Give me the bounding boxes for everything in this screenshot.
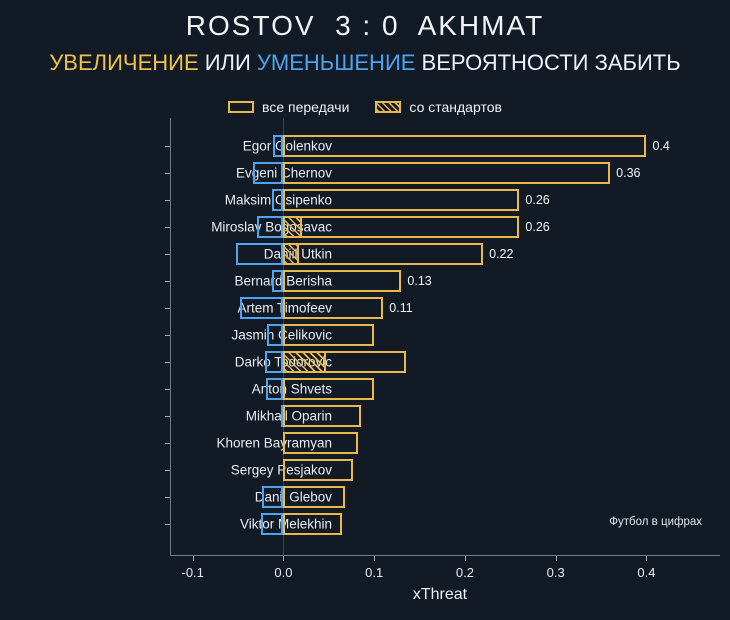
bar-positive bbox=[283, 324, 374, 346]
x-axis-tick-label: -0.1 bbox=[181, 565, 203, 580]
legend-item-all-passes: все передачи bbox=[228, 99, 349, 115]
x-axis-tick bbox=[193, 556, 194, 561]
bar-value-label: 0.22 bbox=[489, 247, 513, 261]
subtitle-increase: УВЕЛИЧЕНИЕ bbox=[49, 50, 198, 75]
bar-negative bbox=[253, 162, 284, 184]
bar-positive bbox=[283, 135, 646, 157]
legend-swatch-hatched-icon bbox=[375, 101, 401, 113]
x-axis-tick bbox=[465, 556, 466, 561]
bar-positive bbox=[283, 459, 353, 481]
bar-positive bbox=[283, 405, 360, 427]
bar-negative bbox=[257, 216, 283, 238]
bar-negative bbox=[265, 351, 283, 373]
x-axis-tick bbox=[646, 556, 647, 561]
bar-positive bbox=[283, 243, 483, 265]
x-axis-tick-label: 0.1 bbox=[365, 565, 383, 580]
x-axis-tick bbox=[556, 556, 557, 561]
bar-negative bbox=[266, 378, 283, 400]
legend-item-set-pieces: со стандартов bbox=[375, 99, 502, 115]
watermark: Футбол в цифрах bbox=[609, 516, 702, 528]
x-axis-tick-label: 0.0 bbox=[274, 565, 292, 580]
bar-value-label: 0.4 bbox=[652, 139, 669, 153]
legend-swatch-outline-icon bbox=[228, 101, 254, 113]
bar-negative bbox=[262, 486, 284, 508]
bar-negative bbox=[236, 243, 283, 265]
bar-positive bbox=[283, 270, 401, 292]
x-axis-title: xThreat bbox=[170, 586, 710, 604]
bar-positive bbox=[283, 513, 342, 535]
x-axis-tick bbox=[374, 556, 375, 561]
legend-label-set-pieces: со стандартов bbox=[409, 99, 502, 115]
x-axis-tick bbox=[283, 556, 284, 561]
bar-negative bbox=[273, 135, 283, 157]
bar-value-label: 0.26 bbox=[525, 193, 549, 207]
x-axis-tick-label: 0.4 bbox=[637, 565, 655, 580]
plot-area: xThreat Футбол в цифрах Egor Golenkov0.4… bbox=[170, 118, 710, 556]
bar-positive bbox=[283, 432, 357, 454]
x-axis-line bbox=[170, 555, 720, 556]
bar-set-piece bbox=[283, 243, 298, 265]
page-title: ROSTOV 3 : 0 AKHMAT bbox=[0, 10, 730, 42]
bar-negative bbox=[272, 189, 284, 211]
x-axis-tick-label: 0.3 bbox=[547, 565, 565, 580]
subtitle-or: ИЛИ bbox=[199, 50, 257, 75]
bar-positive bbox=[283, 162, 610, 184]
bar-positive bbox=[283, 486, 345, 508]
chart-legend: все передачи со стандартов bbox=[0, 99, 730, 115]
x-axis-tick-label: 0.2 bbox=[456, 565, 474, 580]
subtitle-tail: ВЕРОЯТНОСТИ ЗАБИТЬ bbox=[415, 50, 680, 75]
bar-value-label: 0.26 bbox=[525, 220, 549, 234]
bar-value-label: 0.36 bbox=[616, 166, 640, 180]
bar-positive bbox=[283, 216, 519, 238]
bar-negative bbox=[272, 270, 284, 292]
bar-value-label: 0.11 bbox=[389, 301, 412, 315]
bar-positive bbox=[283, 189, 519, 211]
bar-positive bbox=[283, 297, 383, 319]
bar-set-piece bbox=[283, 216, 302, 238]
bar-negative bbox=[261, 513, 284, 535]
subtitle-decrease: УМЕНЬШЕНИЕ bbox=[257, 50, 416, 75]
bar-positive bbox=[283, 378, 374, 400]
page-subtitle: УВЕЛИЧЕНИЕ ИЛИ УМЕНЬШЕНИЕ ВЕРОЯТНОСТИ ЗА… bbox=[0, 50, 730, 76]
legend-label-all-passes: все передачи bbox=[262, 99, 349, 115]
bar-negative bbox=[267, 324, 283, 346]
chart-root: ROSTOV 3 : 0 AKHMAT УВЕЛИЧЕНИЕ ИЛИ УМЕНЬ… bbox=[0, 0, 730, 620]
bar-negative bbox=[240, 297, 284, 319]
bar-value-label: 0.13 bbox=[407, 274, 431, 288]
bar-set-piece bbox=[283, 351, 326, 373]
